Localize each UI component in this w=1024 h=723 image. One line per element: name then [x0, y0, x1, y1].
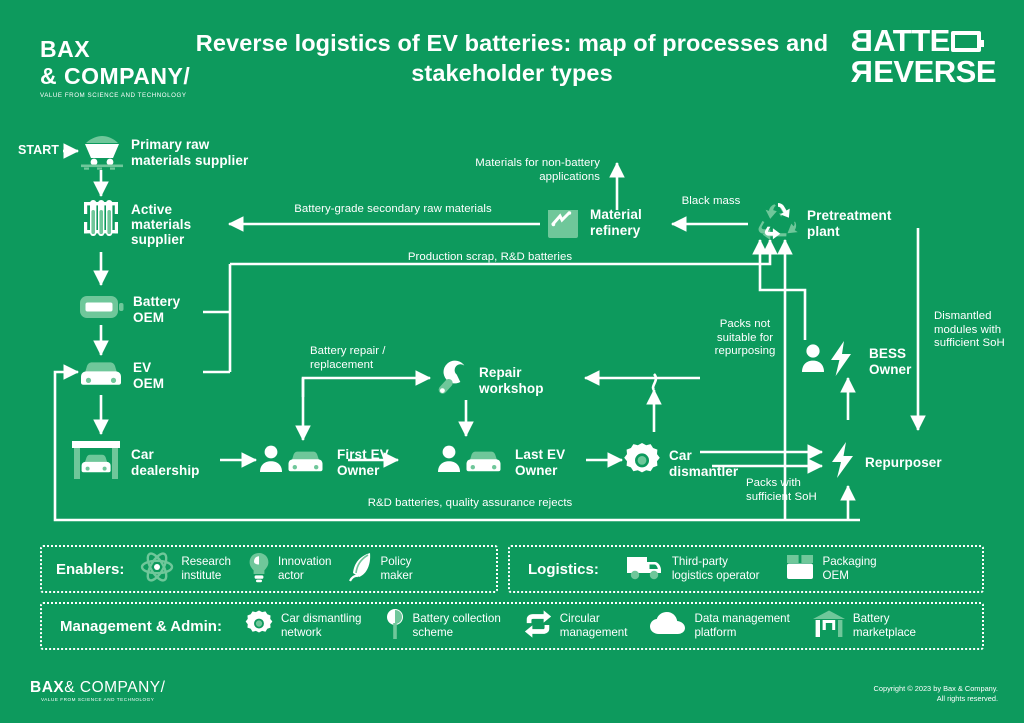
legend-item-label: Packaging OEM: [822, 555, 876, 582]
recycle-icon: [756, 200, 800, 247]
node-pretreatment-plant[interactable]: Pretreatment plant: [756, 200, 891, 247]
wrench-icon: [434, 358, 472, 403]
node-active-materials-supplier[interactable]: Active materials supplier: [78, 198, 191, 251]
legend-logistics-title: Logistics:: [528, 561, 599, 578]
legend-item-innovation-actor[interactable]: Innovation actor: [247, 551, 332, 588]
gear-icon: [622, 441, 662, 486]
edge-label-materials-non-battery: Materials for non-battery applications: [420, 157, 600, 184]
node-car-dealership[interactable]: Car dealership: [70, 437, 200, 488]
lightbulb-icon: [247, 551, 271, 588]
legend-item-label: Battery collection scheme: [413, 612, 501, 639]
node-primary-raw-materials-supplier[interactable]: Primary raw materials supplier: [78, 130, 248, 175]
truck-icon: [625, 552, 665, 587]
legend-item-label: Battery marketplace: [853, 612, 916, 639]
legend-item-label: Car dismantling network: [281, 612, 362, 639]
edge-label-dismantled-modules: Dismantled modules with sufficient SoH: [934, 310, 1024, 351]
legend-enablers-title: Enablers:: [56, 561, 124, 578]
node-label: Battery OEM: [133, 294, 180, 324]
legend-item-policy-maker[interactable]: Policy maker: [348, 551, 413, 588]
node-label: Primary raw materials supplier: [131, 137, 248, 167]
node-car-dismantler[interactable]: Car dismantler: [622, 441, 738, 486]
node-repair-workshop[interactable]: Repair workshop: [434, 358, 544, 403]
node-battery-oem[interactable]: Battery OEM: [78, 290, 180, 329]
node-ev-oem[interactable]: EV OEM: [78, 356, 164, 395]
person-car-icon: [436, 442, 508, 483]
legend-item-research-institute[interactable]: Research institute: [140, 551, 231, 588]
node-label: Pretreatment plant: [807, 208, 891, 238]
quill-icon: [348, 551, 374, 588]
node-label: Active materials supplier: [131, 202, 191, 247]
node-label: First EV Owner: [337, 447, 389, 477]
legend-management-admin-title: Management & Admin:: [60, 618, 222, 635]
infographic-canvas: BAX & COMPANY/ VALUE FROM SCIENCE AND TE…: [0, 0, 1024, 723]
node-last-ev-owner[interactable]: Last EV Owner: [436, 442, 565, 483]
edge-label-production-scrap: Production scrap, R&D batteries: [390, 251, 590, 265]
battery-icon: [78, 290, 126, 329]
start-label: START: [18, 143, 59, 158]
legend-item-label: Data management platform: [694, 612, 789, 639]
legend-item-label: Research institute: [181, 555, 231, 582]
node-label: Repurposer: [865, 455, 942, 470]
legend-item-car-dismantling-network[interactable]: Car dismantling network: [244, 609, 362, 644]
node-label: Car dealership: [131, 447, 200, 477]
legend-item-battery-marketplace[interactable]: Battery marketplace: [812, 609, 916, 644]
mine-cart-icon: [78, 130, 124, 175]
node-label: Material refinery: [590, 207, 642, 237]
person-bolt-icon: [800, 340, 862, 383]
factory-icon: [545, 200, 583, 245]
node-first-ev-owner[interactable]: First EV Owner: [258, 442, 389, 483]
legend-item-label: Policy maker: [381, 555, 413, 582]
edge-label-rd-batteries-qa-rejects: R&D batteries, quality assurance rejects: [310, 497, 630, 511]
legend-item-label: Circular management: [560, 612, 628, 639]
node-label: Repair workshop: [479, 365, 544, 395]
edge-label-battery-repair-replacement: Battery repair / replacement: [310, 345, 440, 372]
atom-icon: [140, 551, 174, 588]
edge-label-packs-not-suitable: Packs not suitable for repurposing: [700, 318, 790, 359]
car-dealership-icon: [70, 437, 124, 488]
box-icon: [785, 552, 815, 587]
test-tubes-icon: [78, 198, 124, 251]
legend-item-label: Innovation actor: [278, 555, 332, 582]
edge-label-battery-grade-secondary: Battery-grade secondary raw materials: [248, 203, 538, 217]
marketplace-icon: [812, 609, 846, 644]
node-material-refinery[interactable]: Material refinery: [545, 200, 642, 245]
legend-logistics: Logistics: Third-party logistics operato…: [508, 545, 984, 593]
legend-item-third-party-logistics-operator[interactable]: Third-party logistics operator: [625, 552, 760, 587]
person-car-icon: [258, 442, 330, 483]
gear-icon: [244, 609, 274, 644]
legend-item-packaging-oem[interactable]: Packaging OEM: [785, 552, 876, 587]
legend-enablers: Enablers: Research institute: [40, 545, 498, 593]
node-label: EV OEM: [133, 360, 164, 390]
bolt-icon: [828, 440, 858, 485]
node-bess-owner[interactable]: BESS Owner: [800, 340, 912, 383]
node-label: Last EV Owner: [515, 447, 565, 477]
node-label: Car dismantler: [669, 448, 738, 478]
legend-item-circular-management[interactable]: Circular management: [523, 609, 628, 644]
car-icon: [78, 356, 126, 395]
legend-item-data-management-platform[interactable]: Data management platform: [649, 611, 789, 642]
legend-item-label: Third-party logistics operator: [672, 555, 760, 582]
cloud-icon: [649, 611, 687, 642]
node-repurposer[interactable]: Repurposer: [828, 440, 942, 485]
legend-management-admin: Management & Admin: Car dismantling netw…: [40, 602, 984, 650]
circular-arrows-icon: [523, 609, 553, 644]
collection-point-icon: [384, 608, 406, 645]
edge-label-black-mass: Black mass: [668, 195, 754, 209]
node-label: BESS Owner: [869, 346, 912, 376]
legend-item-battery-collection-scheme[interactable]: Battery collection scheme: [384, 608, 501, 645]
